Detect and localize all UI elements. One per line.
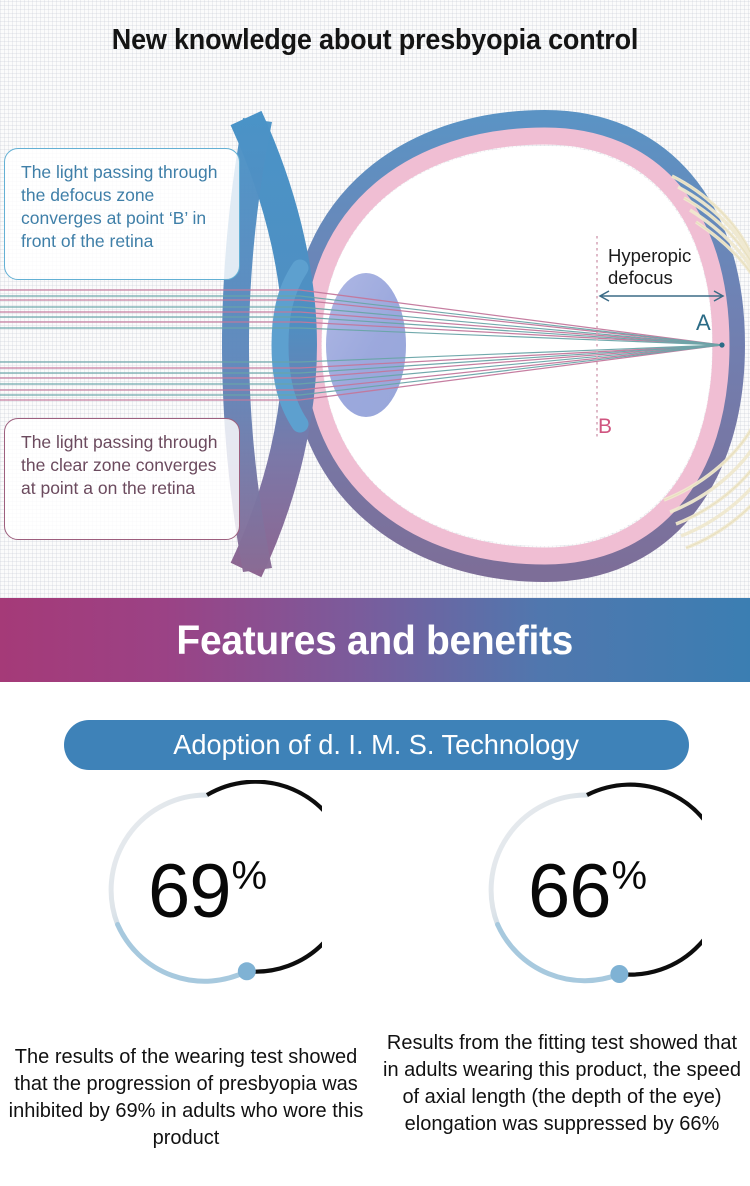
eye-diagram-section: New knowledge about presbyopia control (0, 0, 750, 598)
donut-chart-axial-length: 66 % (472, 780, 702, 1000)
donut-value-69: 69 (148, 854, 231, 930)
donut-unit-69: % (231, 856, 267, 896)
donut-chart-presbyopia: 69 % (92, 780, 322, 1000)
infographic-page: New knowledge about presbyopia control (0, 0, 750, 1186)
callout-defocus-zone: The light passing through the defocus zo… (4, 148, 240, 280)
donut-value-66: 66 (528, 854, 611, 930)
technology-pill: Adoption of d. I. M. S. Technology (64, 720, 689, 770)
donut-unit-66: % (611, 856, 647, 896)
technology-pill-label: Adoption of d. I. M. S. Technology (174, 729, 580, 761)
donut-value-group-66: 66 % (472, 780, 702, 1000)
callout-clear-zone: The light passing through the clear zone… (4, 418, 240, 540)
caption-presbyopia: The results of the wearing test showed t… (8, 1044, 364, 1152)
donut-value-group-69: 69 % (92, 780, 322, 1000)
features-banner: Features and benefits (0, 598, 750, 682)
features-section: Adoption of d. I. M. S. Technology (0, 682, 750, 1186)
focal-point-a-label: A (696, 310, 711, 336)
statistics-donuts: 69 % (0, 780, 750, 1030)
hyperopic-defocus-label: Hyperopic defocus (608, 245, 691, 289)
features-banner-title: Features and benefits (177, 617, 574, 664)
focal-point-b-label: B (598, 415, 612, 439)
caption-axial-length: Results from the fitting test showed tha… (378, 1030, 746, 1138)
